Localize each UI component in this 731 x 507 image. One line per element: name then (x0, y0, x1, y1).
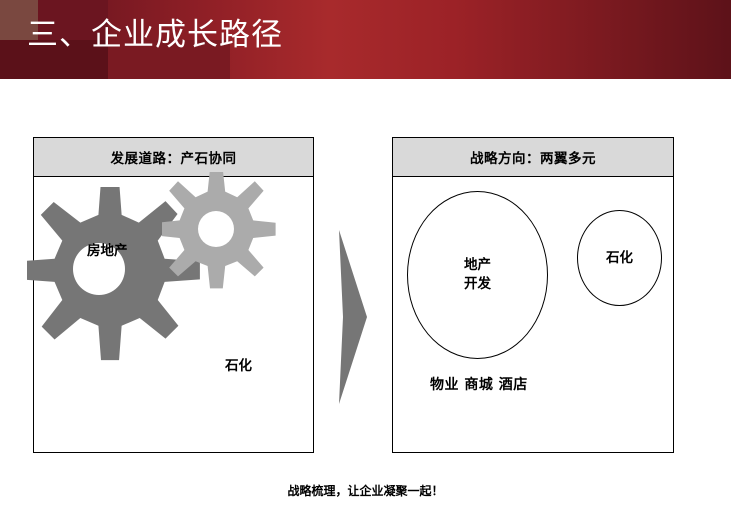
right-panel-body: 地产 开发 石化 物业 商城 酒店 (393, 177, 673, 453)
page-title: 三、企业成长路径 (27, 13, 283, 57)
gear-petrochem-label: 石化 (225, 354, 252, 374)
right-panel-header: 战略方向：两翼多元 (393, 138, 673, 177)
ellipse-realestate-dev-label: 地产 开发 (464, 256, 491, 294)
right-panel: 战略方向：两翼多元 地产 开发 石化 物业 商城 酒店 (392, 137, 674, 453)
left-panel: 发展道路：产石协同 房地产 石化 (33, 137, 314, 453)
right-panel-header-label: 战略方向：两翼多元 (470, 147, 596, 167)
left-panel-header-label: 发展道路：产石协同 (111, 147, 237, 167)
gear-petrochem-icon (162, 172, 302, 312)
footer-note: 战略梳理，让企业凝聚一起！ (0, 482, 731, 499)
ellipse-petrochem: 石化 (577, 210, 662, 306)
slide-header-band: 三、企业成长路径 (0, 0, 731, 79)
sub-businesses-label: 物业 商城 酒店 (430, 374, 528, 394)
gear-realestate-label: 房地产 (87, 239, 128, 259)
transition-arrow-icon (330, 222, 376, 412)
ellipse-realestate-dev: 地产 开发 (407, 191, 548, 359)
ellipse-petrochem-label: 石化 (606, 249, 633, 268)
left-panel-body: 房地产 石化 (34, 177, 313, 453)
